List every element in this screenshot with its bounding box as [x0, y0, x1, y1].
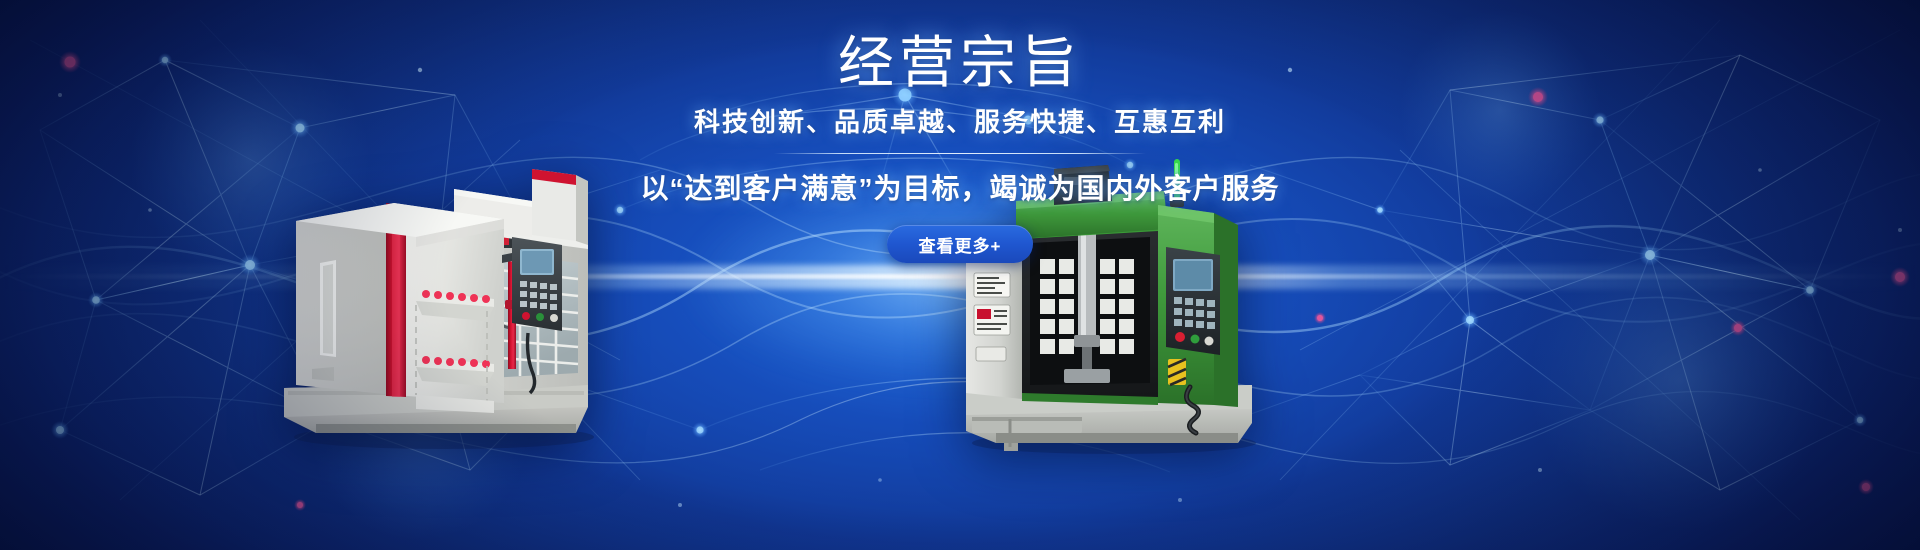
view-more-button[interactable]: 查看更多+ — [887, 225, 1033, 263]
banner-subtitle: 科技创新、品质卓越、服务快捷、互惠互利 — [694, 102, 1226, 139]
promo-banner: 经营宗旨 科技创新、品质卓越、服务快捷、互惠互利 以“达到客户满意”为目标，竭诚… — [0, 0, 1920, 550]
banner-tagline: 以“达到客户满意”为目标，竭诚为国内外客户服务 — [640, 167, 1279, 207]
page-title: 经营宗旨 — [838, 30, 1082, 96]
text-divider — [774, 153, 1146, 154]
banner-content: 经营宗旨 科技创新、品质卓越、服务快捷、互惠互利 以“达到客户满意”为目标，竭诚… — [0, 0, 1920, 550]
